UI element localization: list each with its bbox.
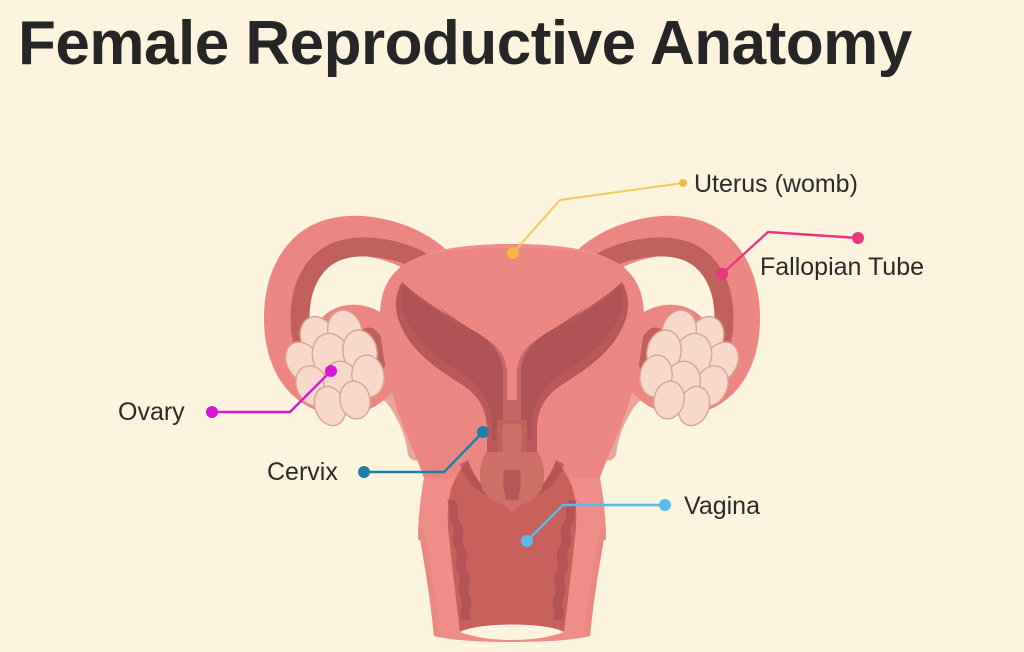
fallopian-tube-marker-dot	[716, 268, 728, 280]
uterus-marker-dot	[507, 247, 519, 259]
anatomy-illustration	[0, 0, 1024, 652]
ovary-anchor-dot	[206, 406, 218, 418]
label-ovary: Ovary	[118, 398, 185, 427]
label-fallopian-tube: Fallopian Tube	[760, 253, 924, 282]
vagina-marker-dot	[521, 535, 533, 547]
label-uterus: Uterus (womb)	[694, 170, 858, 199]
ovary-marker-dot	[325, 365, 337, 377]
fallopian-tube-anchor-dot	[852, 232, 864, 244]
vagina-anchor-dot	[659, 499, 671, 511]
diagram-page: Female Reproductive Anatomy	[0, 0, 1024, 652]
uterus-anchor-dot	[679, 179, 687, 187]
label-cervix: Cervix	[267, 458, 338, 487]
cervix-anchor-dot	[358, 466, 370, 478]
cervix-marker-dot	[477, 426, 489, 438]
label-vagina: Vagina	[684, 492, 760, 521]
